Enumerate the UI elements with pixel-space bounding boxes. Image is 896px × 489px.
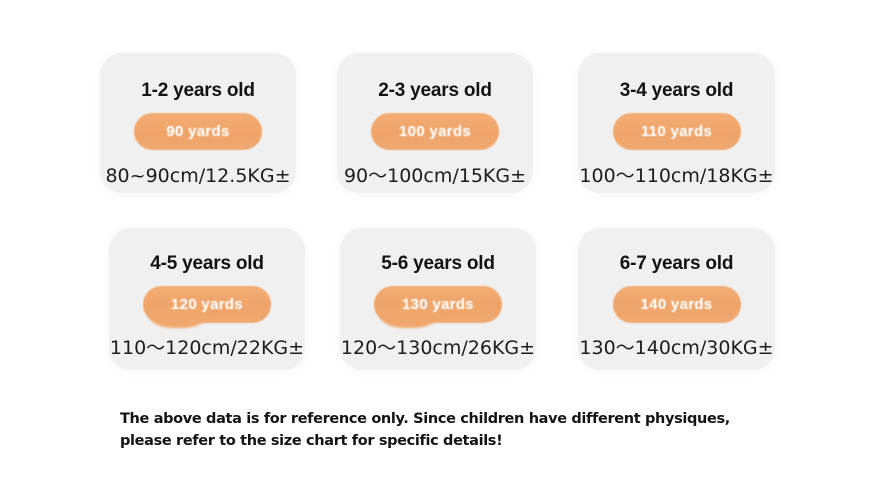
size-pill-label: 140 yards [641,296,713,313]
size-card-4-5-years: 4-5 years old 120 yards 110〜120cm/22KG± [109,228,305,370]
size-pill-wrap: 90 yards [134,113,262,150]
card-title: 1-2 years old [141,81,255,100]
size-pill-wrap: 140 yards [613,286,741,323]
size-card-1-2-years: 1-2 years old 90 yards 80~90cm/12.5KG± [100,53,296,193]
size-pill-label: 110 yards [641,123,712,140]
card-measurement-range: 120〜130cm/26KG± [341,339,535,358]
card-measurement-range: 110〜120cm/22KG± [110,339,304,358]
size-pill-wrap: 130 yards [374,286,502,323]
size-card-3-4-years: 3-4 years old 110 yards 100〜110cm/18KG± [578,53,775,193]
size-pill: 90 yards [134,113,262,150]
card-title: 6-7 years old [620,254,734,273]
size-chart-panel: 1-2 years old 90 yards 80~90cm/12.5KG± 2… [0,0,896,489]
size-pill: 120 yards [143,286,271,323]
card-title: 5-6 years old [381,254,495,273]
card-measurement-range: 80~90cm/12.5KG± [105,167,290,186]
size-card-6-7-years: 6-7 years old 140 yards 130〜140cm/30KG± [578,228,775,370]
card-title: 3-4 years old [620,81,734,100]
card-measurement-range: 100〜110cm/18KG± [579,167,773,186]
size-pill-label: 100 yards [399,123,471,140]
size-card-5-6-years: 5-6 years old 130 yards 120〜130cm/26KG± [340,228,536,370]
size-pill-label: 90 yards [166,123,229,140]
size-pill-label: 120 yards [171,296,243,313]
card-measurement-range: 90〜100cm/15KG± [344,167,526,186]
size-pill: 100 yards [371,113,499,150]
card-title: 4-5 years old [150,254,264,273]
size-pill: 110 yards [613,113,741,150]
card-measurement-range: 130〜140cm/30KG± [579,339,773,358]
size-pill-wrap: 100 yards [371,113,499,150]
size-pill-label: 130 yards [402,296,474,313]
size-pill: 130 yards [374,286,502,323]
size-pill-wrap: 110 yards [613,113,741,150]
disclaimer-text: The above data is for reference only. Si… [120,408,780,453]
size-card-2-3-years: 2-3 years old 100 yards 90〜100cm/15KG± [337,53,533,193]
card-title: 2-3 years old [378,81,492,100]
size-pill: 140 yards [613,286,741,323]
size-pill-wrap: 120 yards [143,286,271,323]
